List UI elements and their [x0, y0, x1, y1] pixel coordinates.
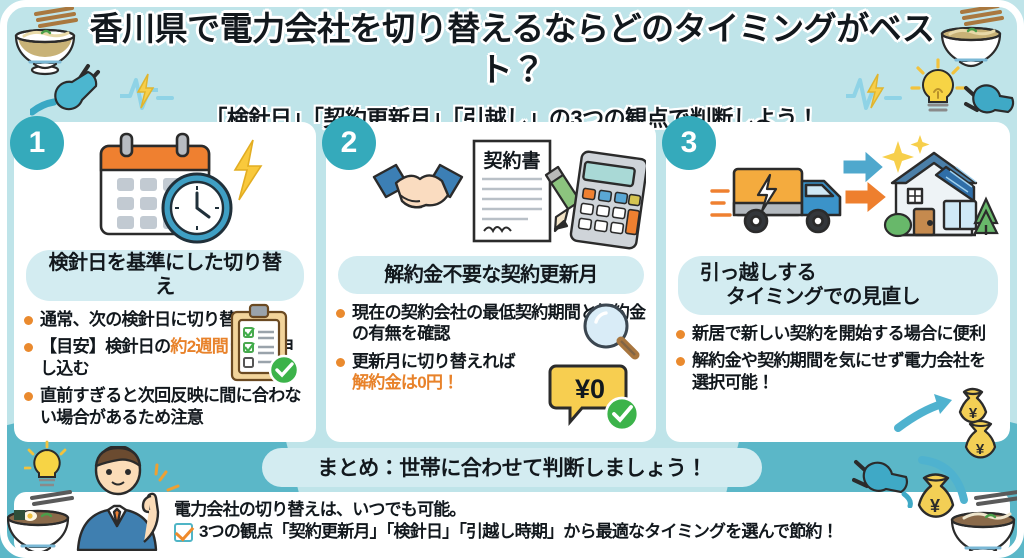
- bullet-dot: [24, 392, 33, 401]
- list-item: 現在の契約会社の最低契約期間と解約金の有無を確認: [336, 302, 646, 345]
- bullet-text: 【目安】検針日の約2週間までに申し込む: [40, 336, 306, 379]
- bullet-text: 現在の契約会社の最低契約期間と解約金の有無を確認: [352, 302, 646, 345]
- summary-box: 電力会社の切り替えは、いつでも可能。 3つの観点「契約更新月」「検針日」「引越し…: [14, 492, 1010, 554]
- panel-1-bullets: 通常、次の検針日に切り替わる 【目安】検針日の約2週間までに申し込む 直前すぎる…: [24, 309, 306, 434]
- infographic-root: 香川県で電力会社を切り替えるならどのタイミングがベスト？ 「検針日」「契約更新月…: [0, 0, 1024, 558]
- lightning-bolt-icon: [235, 140, 261, 200]
- panel-3-illustration: [676, 130, 1000, 254]
- handshake-icon: [374, 165, 462, 208]
- step-badge-3: 3: [662, 116, 716, 170]
- panel-1-title: 検針日を基準にした切り替え: [26, 250, 304, 301]
- page-title: 香川県で電力会社を切り替えるならどのタイミングがベスト？: [0, 8, 1024, 91]
- clock-icon: [163, 174, 231, 242]
- arrow-right-icon: [846, 183, 885, 211]
- bullet-text: 更新月に切り替えれば 解約金は0円！: [352, 351, 515, 394]
- header: 香川県で電力会社を切り替えるならどのタイミングがベスト？ 「検針日」「契約更新月…: [0, 0, 1024, 112]
- check-circle-icon: [606, 398, 638, 430]
- panel-3-title-line2: タイミングでの見直し: [700, 285, 920, 309]
- panel-step-1[interactable]: 1: [14, 122, 316, 442]
- panel-3-title-line1: 引っ越しする: [700, 262, 816, 284]
- panel-2-illustration: 契約書: [336, 130, 646, 254]
- contract-document-icon: 契約書: [474, 141, 550, 241]
- contract-doc-label: 契約書: [483, 149, 540, 172]
- bullet-dot: [24, 316, 33, 325]
- panel-1-illustration: [24, 130, 306, 248]
- summary-line-1: 電力会社の切り替えは、いつでも可能。: [174, 499, 998, 521]
- summary-line-1-text: 電力会社の切り替えは、いつでも可能。: [174, 499, 466, 521]
- moving-truck-icon: [734, 169, 840, 232]
- arrow-right-icon: [844, 153, 882, 181]
- bullet-dot: [676, 330, 685, 339]
- summary-section: まとめ：世帯に合わせて判断しましょう！ 電力会社の切り替えは、いつでも可能。 3…: [0, 448, 1024, 554]
- light-bulb-icon: [24, 440, 70, 492]
- step-badge-2: 2: [322, 116, 376, 170]
- panel-row: 1: [0, 112, 1024, 442]
- panel-3-bullets: 新居で新しい契約を開始する場合に便利 解約金や契約期間を気にせず電力会社を選択可…: [676, 323, 1000, 434]
- panel-3-title: 引っ越しする タイミングでの見直し: [678, 256, 998, 315]
- svg-text:¥: ¥: [969, 405, 978, 422]
- bullet-text: 解約金や契約期間を気にせず電力会社を選択可能！: [692, 350, 1000, 393]
- calendar-icon: [87, 130, 277, 248]
- list-item: 直前すぎると次回反映に間に合わない場合があるため注意: [24, 385, 306, 428]
- bullet-dot: [24, 343, 33, 352]
- bullet-text: 直前すぎると次回反映に間に合わない場合があるため注意: [40, 385, 306, 428]
- list-item: 解約金や契約期間を気にせず電力会社を選択可能！: [676, 350, 1000, 393]
- panel-step-2[interactable]: 2 契約書: [326, 122, 656, 442]
- highlight-text: 約2週間: [170, 337, 228, 356]
- bullet-dot: [336, 309, 345, 318]
- list-item: 【目安】検針日の約2週間までに申し込む: [24, 336, 306, 379]
- bullet-dot: [336, 358, 345, 367]
- calculator-icon: [570, 151, 646, 249]
- speed-lines-icon: [712, 191, 730, 215]
- summary-line-2: 3つの観点「契約更新月」「検針日」「引越し時期」から最適なタイミングを選んで節約…: [174, 521, 998, 543]
- step-badge-1: 1: [10, 116, 64, 170]
- panel-2-title: 解約金不要な契約更新月: [338, 256, 644, 294]
- panel-2-bullets: 現在の契約会社の最低契約期間と解約金の有無を確認 更新月に切り替えれば 解約金は…: [336, 302, 646, 434]
- list-item: 更新月に切り替えれば 解約金は0円！: [336, 351, 646, 394]
- summary-line-2-text: 3つの観点「契約更新月」「検針日」「引越し時期」から最適なタイミングを選んで節約…: [199, 521, 838, 543]
- bullet-dot: [676, 357, 685, 366]
- money-bag-icon: ¥: [960, 389, 986, 422]
- checkbox-icon: [174, 523, 193, 542]
- panel-step-3[interactable]: 3: [666, 122, 1010, 442]
- bullet-text: 通常、次の検針日に切り替わる: [40, 309, 268, 330]
- list-item: 新居で新しい契約を開始する場合に便利: [676, 323, 1000, 344]
- highlight-text: 解約金は0円！: [352, 373, 459, 392]
- summary-banner: まとめ：世帯に合わせて判断しましょう！: [262, 448, 762, 487]
- bullet-text: 新居で新しい契約を開始する場合に便利: [692, 323, 985, 344]
- list-item: 通常、次の検針日に切り替わる: [24, 309, 306, 330]
